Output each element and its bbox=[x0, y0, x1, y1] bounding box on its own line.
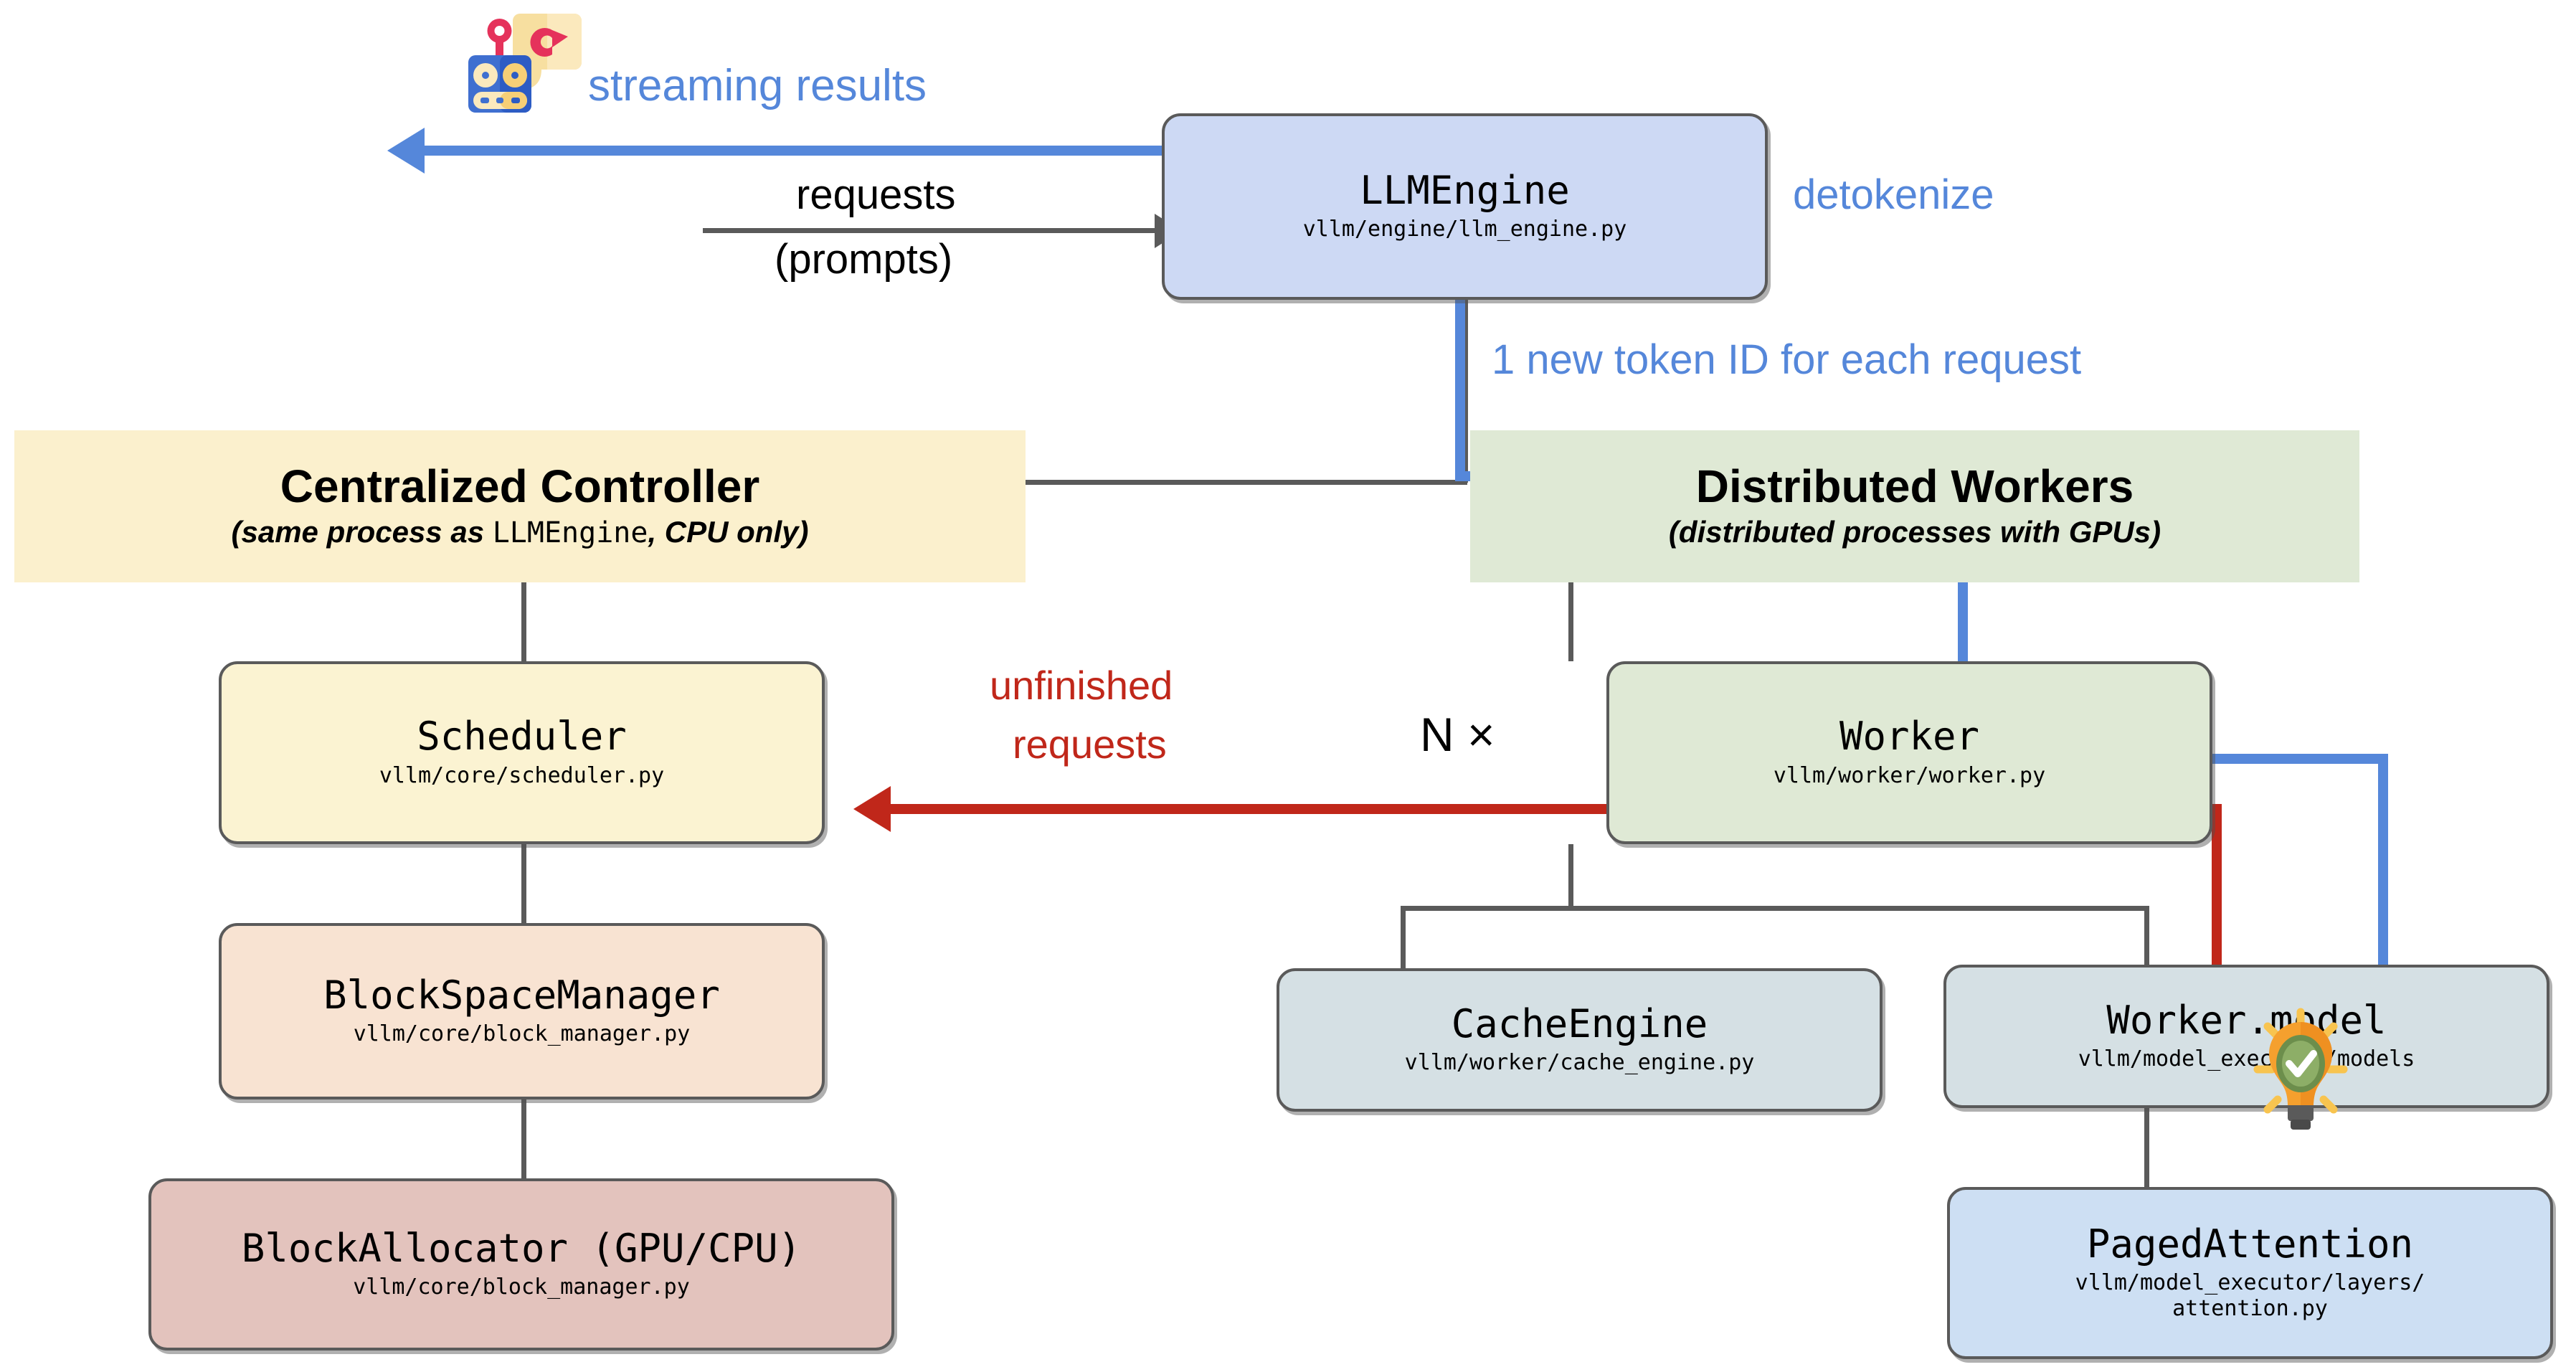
node-path-block-allocator: vllm/core/block_manager.py bbox=[353, 1274, 690, 1300]
node-title-block-allocator: BlockAllocator (GPU/CPU) bbox=[242, 1229, 801, 1269]
workers-band-to-worker-line bbox=[1568, 582, 1573, 661]
label-requests-line2: (prompts) bbox=[775, 237, 952, 283]
scheduler-to-blockspace-line bbox=[521, 844, 526, 923]
robot-icon-svg bbox=[448, 11, 592, 143]
node-title-paged-attention: PagedAttention bbox=[2087, 1224, 2413, 1265]
streaming-results-arrowhead bbox=[387, 128, 425, 174]
controller-to-scheduler-line bbox=[521, 582, 526, 661]
band-sub-pre: (same process as bbox=[232, 515, 493, 549]
node-path-llm-engine: vllm/engine/llm_engine.py bbox=[1303, 217, 1627, 242]
node-title-cache-engine: CacheEngine bbox=[1452, 1004, 1708, 1045]
lightbulb-icon-svg bbox=[2250, 1008, 2351, 1140]
band-title-controller: Centralized Controller bbox=[280, 463, 760, 511]
band-title-workers: Distributed Workers bbox=[1696, 463, 2134, 511]
node-path-worker-model: vllm/model_executor/models bbox=[2078, 1046, 2415, 1072]
band-sub-mono: LLMEngine bbox=[493, 516, 648, 549]
robot-streaming-icon bbox=[448, 11, 592, 143]
node-path-block-space-manager: vllm/core/block_manager.py bbox=[354, 1021, 691, 1047]
node-scheduler[interactable]: Scheduler vllm/core/scheduler.py bbox=[219, 661, 825, 844]
band-sub-pre-workers: (distributed processes with GPUs) bbox=[1669, 515, 2161, 549]
unfinished-requests-arrowhead bbox=[853, 786, 891, 832]
node-title-scheduler: Scheduler bbox=[417, 716, 627, 757]
node-path-paged-attention-line1: vllm/model_executor/layers/ bbox=[2075, 1270, 2425, 1296]
node-path-cache-engine: vllm/worker/cache_engine.py bbox=[1405, 1050, 1755, 1076]
band-subtitle-controller: (same process as LLMEngine, CPU only) bbox=[232, 515, 809, 549]
label-new-token-id: 1 new token ID for each request bbox=[1492, 337, 2081, 384]
worker-model-to-paged-line bbox=[2144, 1108, 2149, 1187]
band-centralized-controller: Centralized Controller (same process as … bbox=[14, 430, 1026, 582]
token-flow-segment-vertical-3 bbox=[2378, 754, 2388, 990]
diagram-canvas: Centralized Controller (same process as … bbox=[0, 0, 2576, 1367]
node-path-scheduler: vllm/core/scheduler.py bbox=[379, 763, 664, 789]
node-worker[interactable]: Worker vllm/worker/worker.py bbox=[1606, 661, 2212, 844]
label-unfinished-requests-line1: unfinished bbox=[990, 663, 1173, 709]
lightbulb-check-icon bbox=[2250, 1008, 2351, 1140]
label-unfinished-requests-line2: requests bbox=[1013, 722, 1167, 767]
band-subtitle-workers: (distributed processes with GPUs) bbox=[1669, 515, 2161, 549]
node-path-paged-attention-line2: attention.py bbox=[2172, 1296, 2328, 1322]
node-title-block-space-manager: BlockSpaceManager bbox=[323, 975, 720, 1016]
label-detokenize: detokenize bbox=[1793, 172, 1994, 219]
blockspace-to-blockallocator-line bbox=[521, 1099, 526, 1178]
band-sub-post: , CPU only) bbox=[648, 515, 808, 549]
node-llm-engine[interactable]: LLMEngine vllm/engine/llm_engine.py bbox=[1162, 113, 1768, 300]
node-title-worker: Worker bbox=[1839, 716, 1979, 757]
worker-to-children-stem bbox=[1568, 844, 1573, 910]
label-n-times: N × bbox=[1420, 709, 1495, 762]
unfinished-requests-vertical-main bbox=[2212, 804, 2222, 990]
node-path-worker: vllm/worker/worker.py bbox=[1774, 763, 2045, 789]
worker-children-bus bbox=[1401, 906, 2149, 911]
node-paged-attention[interactable]: PagedAttention vllm/model_executor/layer… bbox=[1947, 1187, 2553, 1359]
node-title-llm-engine: LLMEngine bbox=[1360, 171, 1570, 212]
label-streaming-results: streaming results bbox=[588, 61, 927, 110]
node-block-allocator[interactable]: BlockAllocator (GPU/CPU) vllm/core/block… bbox=[148, 1178, 894, 1351]
band-distributed-workers: Distributed Workers (distributed process… bbox=[1470, 430, 2359, 582]
node-worker-model[interactable]: Worker.model vllm/model_executor/models bbox=[1943, 965, 2549, 1108]
band-link-horizontal bbox=[1026, 480, 1467, 485]
requests-arrow-line bbox=[703, 228, 1162, 233]
node-block-space-manager[interactable]: BlockSpaceManager vllm/core/block_manage… bbox=[219, 923, 825, 1099]
label-requests-line1: requests bbox=[796, 172, 955, 219]
node-cache-engine[interactable]: CacheEngine vllm/worker/cache_engine.py bbox=[1277, 968, 1883, 1112]
